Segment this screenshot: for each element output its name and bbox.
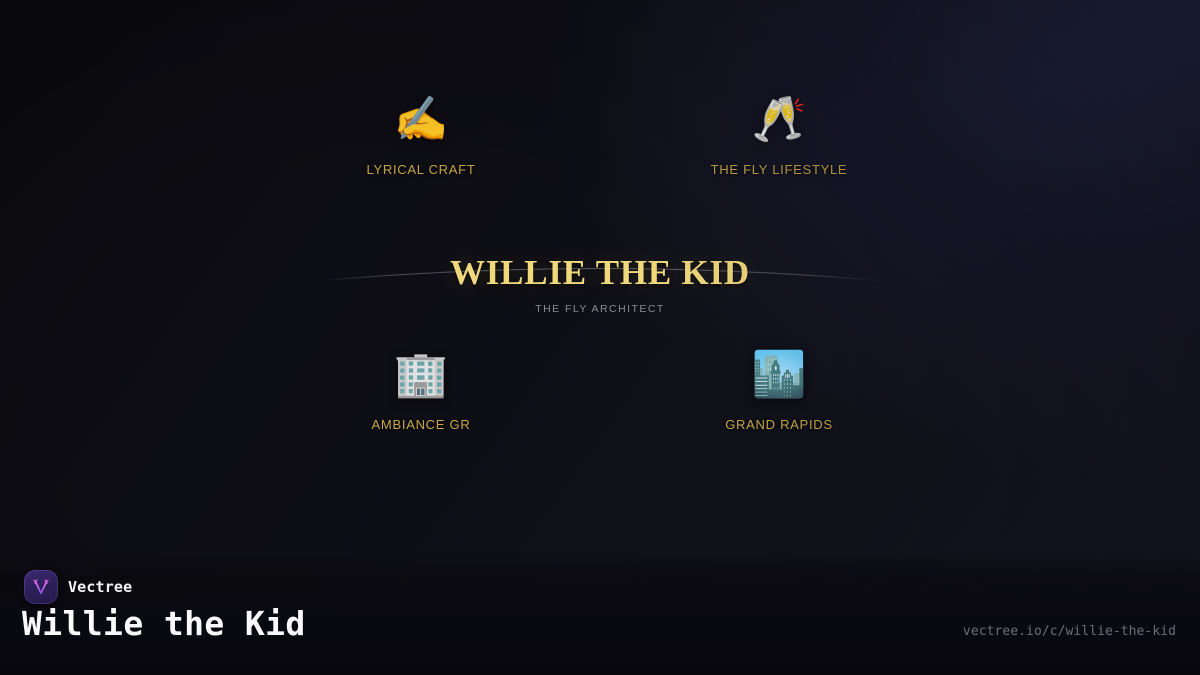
footer-url[interactable]: vectree.io/c/willie-the-kid <box>963 624 1176 639</box>
brand-name: Vectree <box>68 578 132 596</box>
writing-hand-icon: ✍️ <box>321 92 521 148</box>
graph-node-label: GRAND RAPIDS <box>679 417 879 432</box>
hero-block: WILLIE THE KID THE FLY ARCHITECT <box>220 252 980 316</box>
clinking-glasses-icon: 🥂 <box>679 92 879 148</box>
graph-node-ambiance-gr[interactable]: 🏢 AMBIANCE GR <box>321 347 521 432</box>
page-title: WILLIE THE KID <box>220 252 980 294</box>
graph-node-label: LYRICAL CRAFT <box>321 162 521 177</box>
brand-row[interactable]: Vectree <box>24 570 132 604</box>
graph-node-lyrical-craft[interactable]: ✍️ LYRICAL CRAFT <box>321 92 521 177</box>
footer-bar: Vectree Willie the Kid vectree.io/c/will… <box>0 552 1200 675</box>
graph-node-the-fly-lifestyle[interactable]: 🥂 THE FLY LIFESTYLE <box>679 92 879 177</box>
graph-node-label: THE FLY LIFESTYLE <box>679 162 879 177</box>
graph-node-grand-rapids[interactable]: 🏙️ GRAND RAPIDS <box>679 347 879 432</box>
cityscape-icon: 🏙️ <box>679 347 879 403</box>
concept-graph: ✍️ LYRICAL CRAFT 🥂 THE FLY LIFESTYLE WIL… <box>0 0 1200 552</box>
footer-title: Willie the Kid <box>22 604 306 644</box>
page-canvas: ✍️ LYRICAL CRAFT 🥂 THE FLY LIFESTYLE WIL… <box>0 0 1200 675</box>
vectree-logo <box>24 570 58 604</box>
graph-node-label: AMBIANCE GR <box>321 417 521 432</box>
office-building-icon: 🏢 <box>321 347 521 403</box>
page-subtitle: THE FLY ARCHITECT <box>220 302 980 316</box>
